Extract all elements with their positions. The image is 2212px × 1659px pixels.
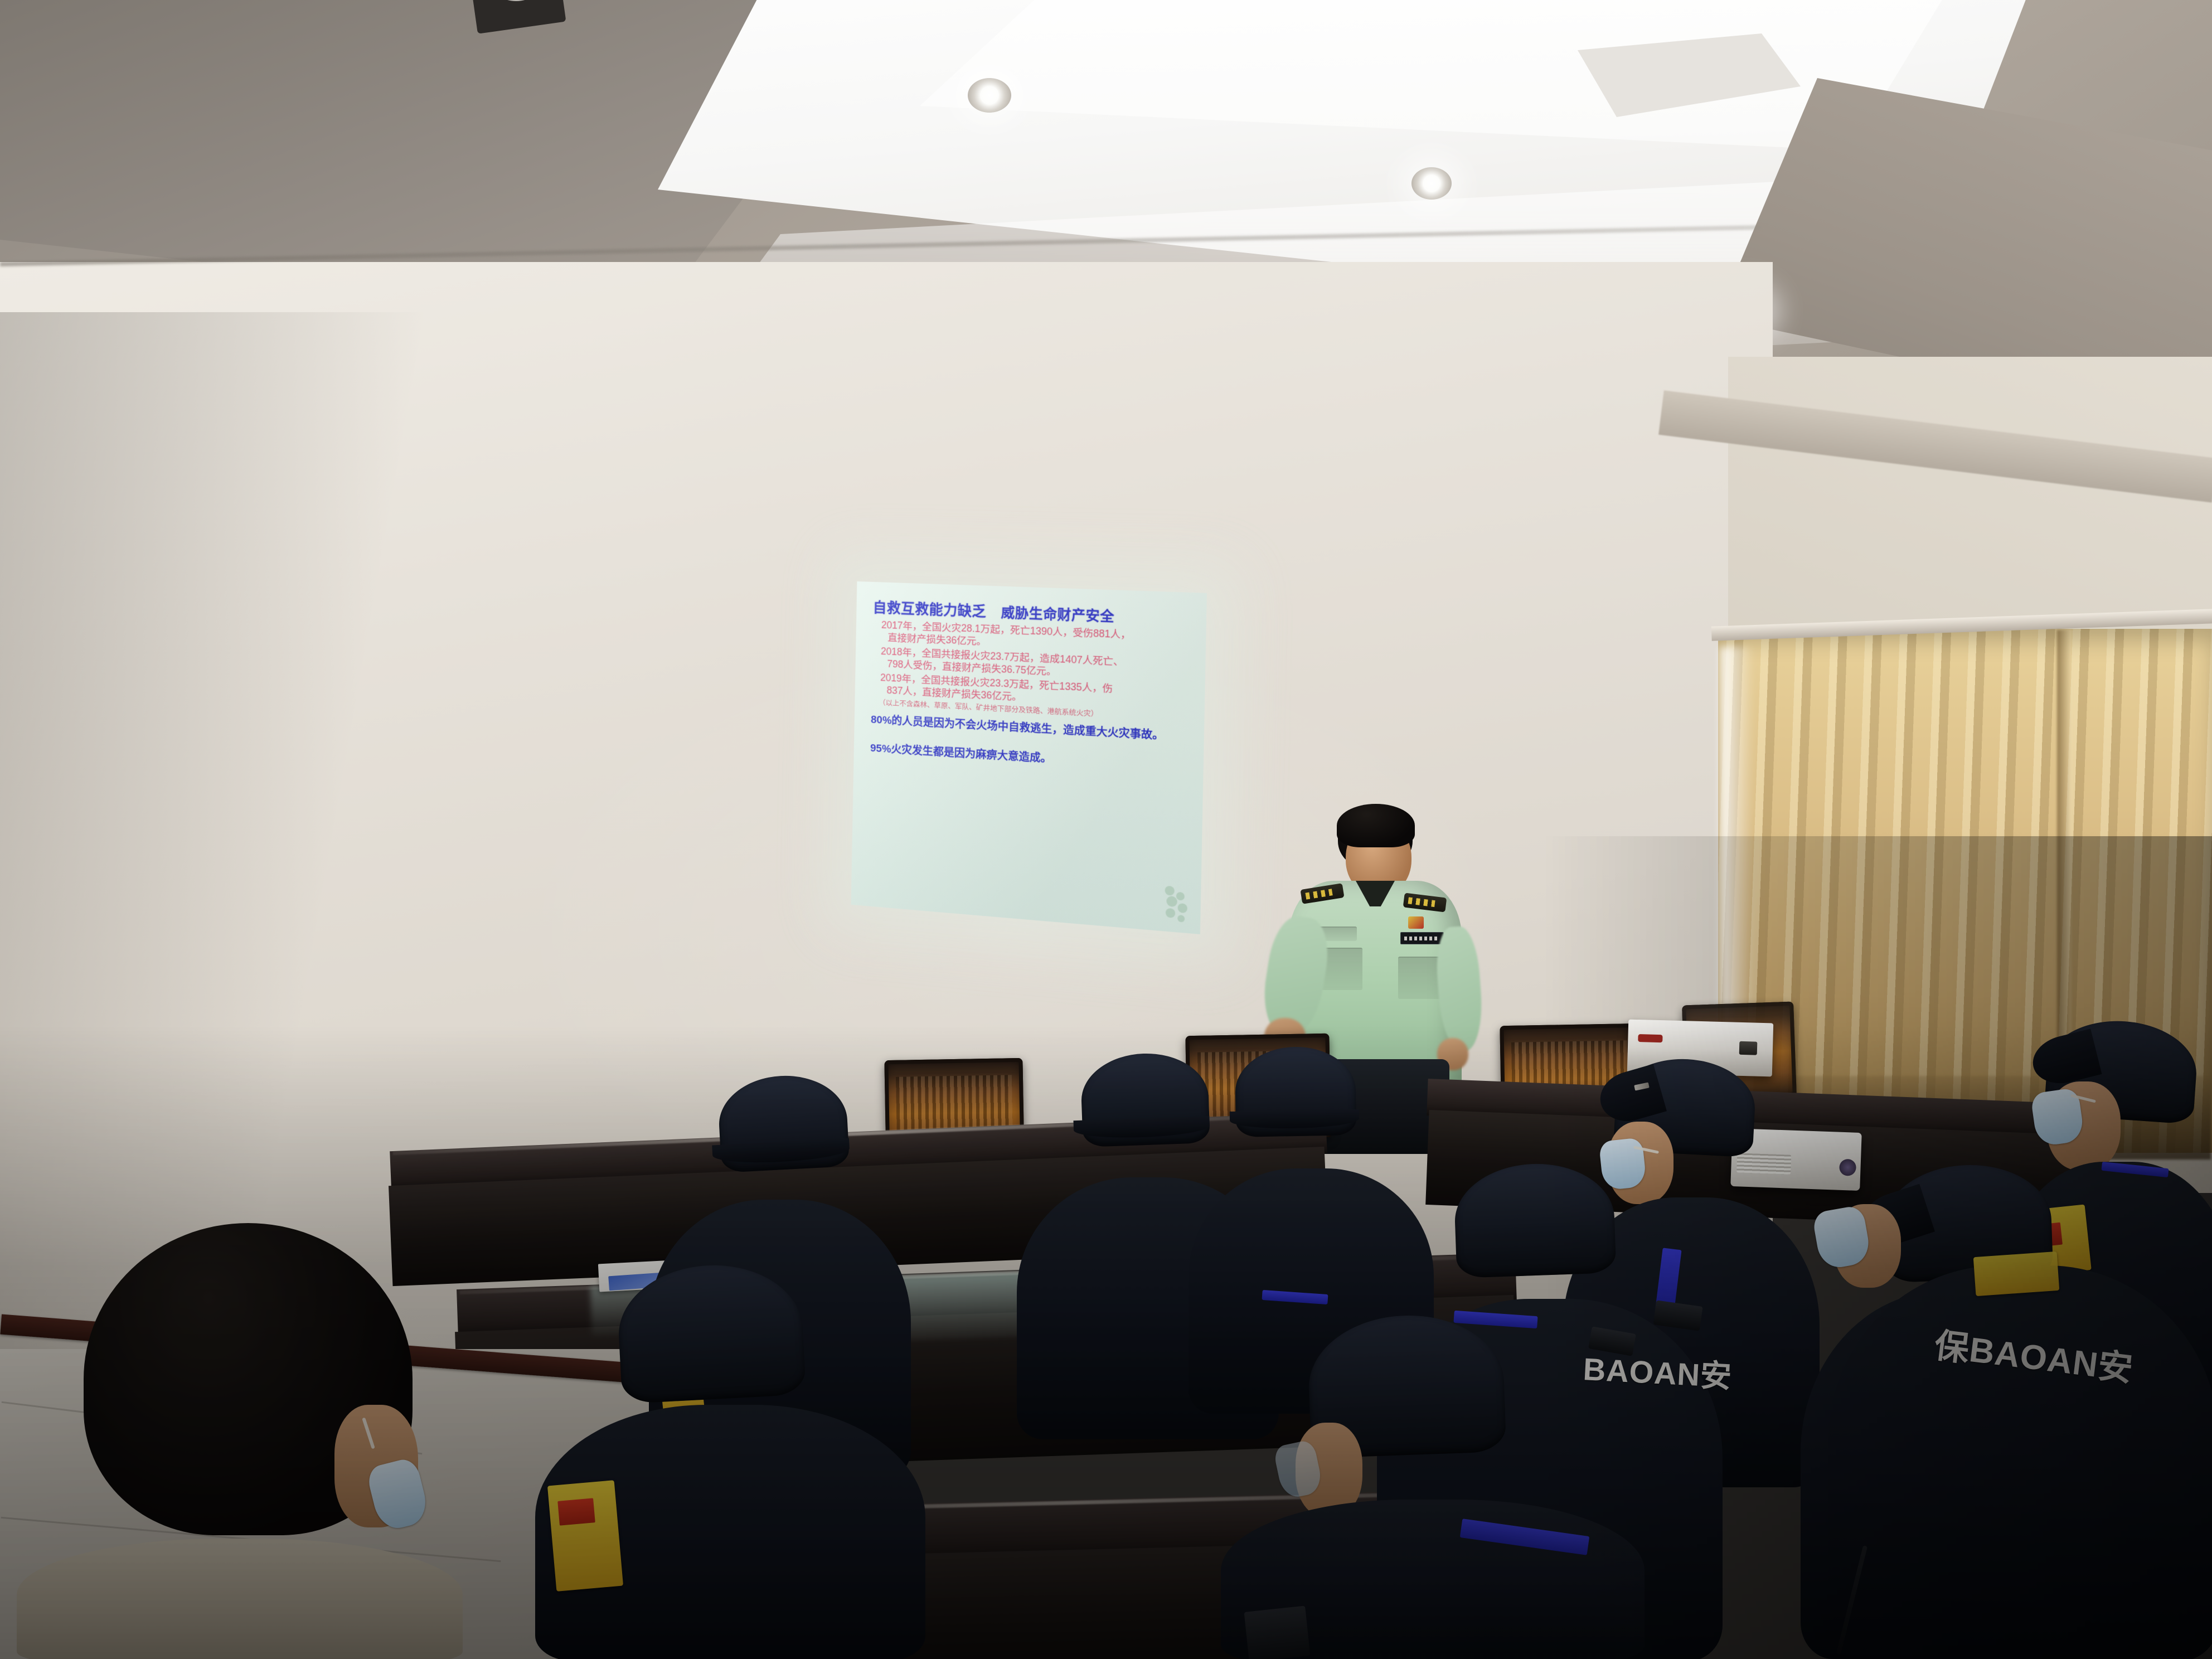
slide-watermark-icon	[1156, 882, 1192, 924]
projector-vent-grille	[1736, 1153, 1792, 1175]
downlight-2-icon	[1411, 167, 1452, 200]
slide-title-right: 威胁生命财产安全	[1001, 601, 1114, 625]
downlight-1-icon	[968, 78, 1011, 113]
projector-lens-icon	[1839, 1159, 1856, 1176]
torso	[17, 1539, 463, 1659]
uniform-back-text-partial: BAOAN安	[1582, 1344, 1733, 1397]
presenter-chest-emblem	[1408, 916, 1424, 929]
armband-yellow	[1973, 1251, 2060, 1296]
training-room-photo: 自救互救能力缺乏 威胁生命财产安全 2017年，全国火灾28.1万起，死亡139…	[0, 0, 2212, 1659]
torso	[1828, 1265, 2212, 1659]
case-handle	[1638, 1034, 1662, 1042]
presenter-name-badge	[1400, 932, 1444, 944]
armband-red-text	[557, 1498, 595, 1525]
slide-statistics: 2017年，全国火灾28.1万起，死亡1390人，受伤881人， 直接财产损失3…	[871, 618, 1190, 712]
armband-yellow	[547, 1480, 623, 1592]
radio-unit	[1244, 1605, 1311, 1659]
case-latch	[1739, 1041, 1758, 1055]
presenter-hair-top	[1337, 804, 1415, 847]
slide-highlight-95: 95%火灾发生都是因为麻痹大意造成。	[870, 742, 1188, 775]
projection-screen: 自救互救能力缺乏 威胁生命财产安全 2017年，全国火灾28.1万起，死亡139…	[851, 581, 1207, 934]
slide-title-left: 自救互救能力缺乏	[873, 596, 987, 621]
